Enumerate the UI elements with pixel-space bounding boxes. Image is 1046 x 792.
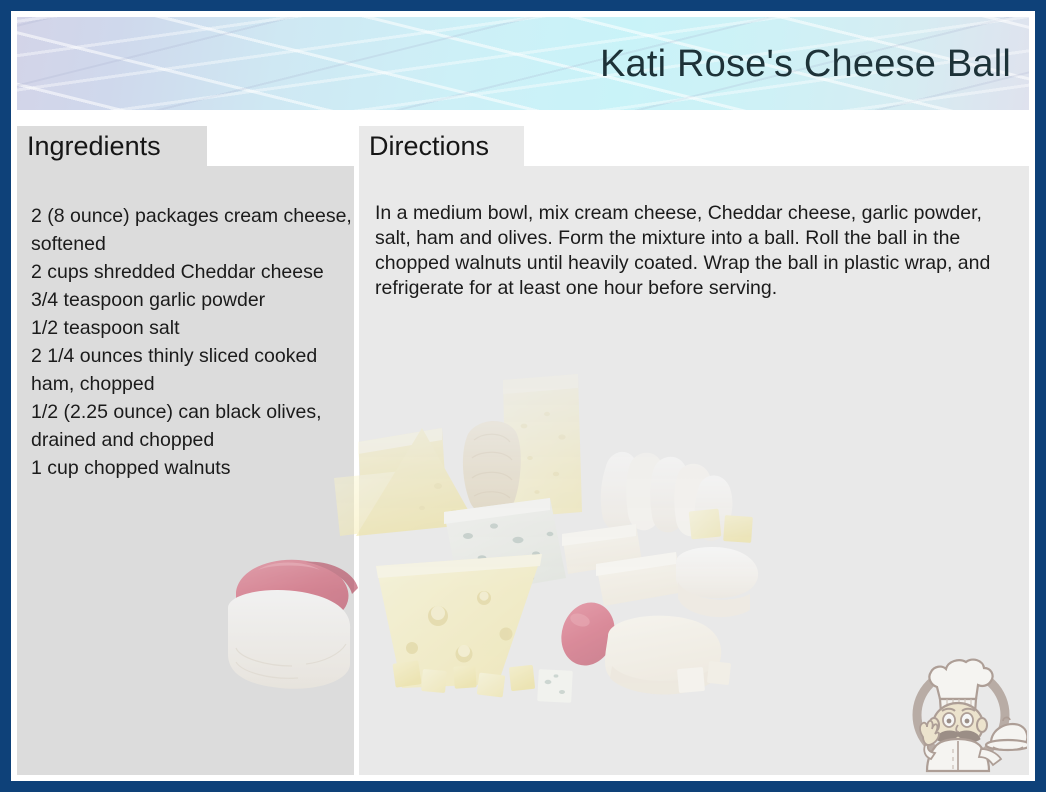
ingredients-list: 2 (8 ounce) packages cream cheese, softe… xyxy=(31,202,354,482)
ingredients-panel: 2 (8 ounce) packages cream cheese, softe… xyxy=(17,166,354,775)
tab-directions[interactable]: Directions xyxy=(359,126,524,166)
chef-mascot-logo xyxy=(895,641,1027,773)
page-title: Kati Rose's Cheese Ball xyxy=(600,45,1011,83)
directions-paragraph: In a medium bowl, mix cream cheese, Ched… xyxy=(375,201,1015,301)
slide-content-area: Kati Rose's Cheese Ball Ingredients Dire… xyxy=(11,11,1035,781)
tab-ingredients-label: Ingredients xyxy=(27,131,161,162)
tab-directions-label: Directions xyxy=(369,131,489,162)
title-banner: Kati Rose's Cheese Ball xyxy=(17,17,1029,110)
tab-ingredients[interactable]: Ingredients xyxy=(17,126,207,166)
recipe-slide: Kati Rose's Cheese Ball Ingredients Dire… xyxy=(0,0,1046,792)
